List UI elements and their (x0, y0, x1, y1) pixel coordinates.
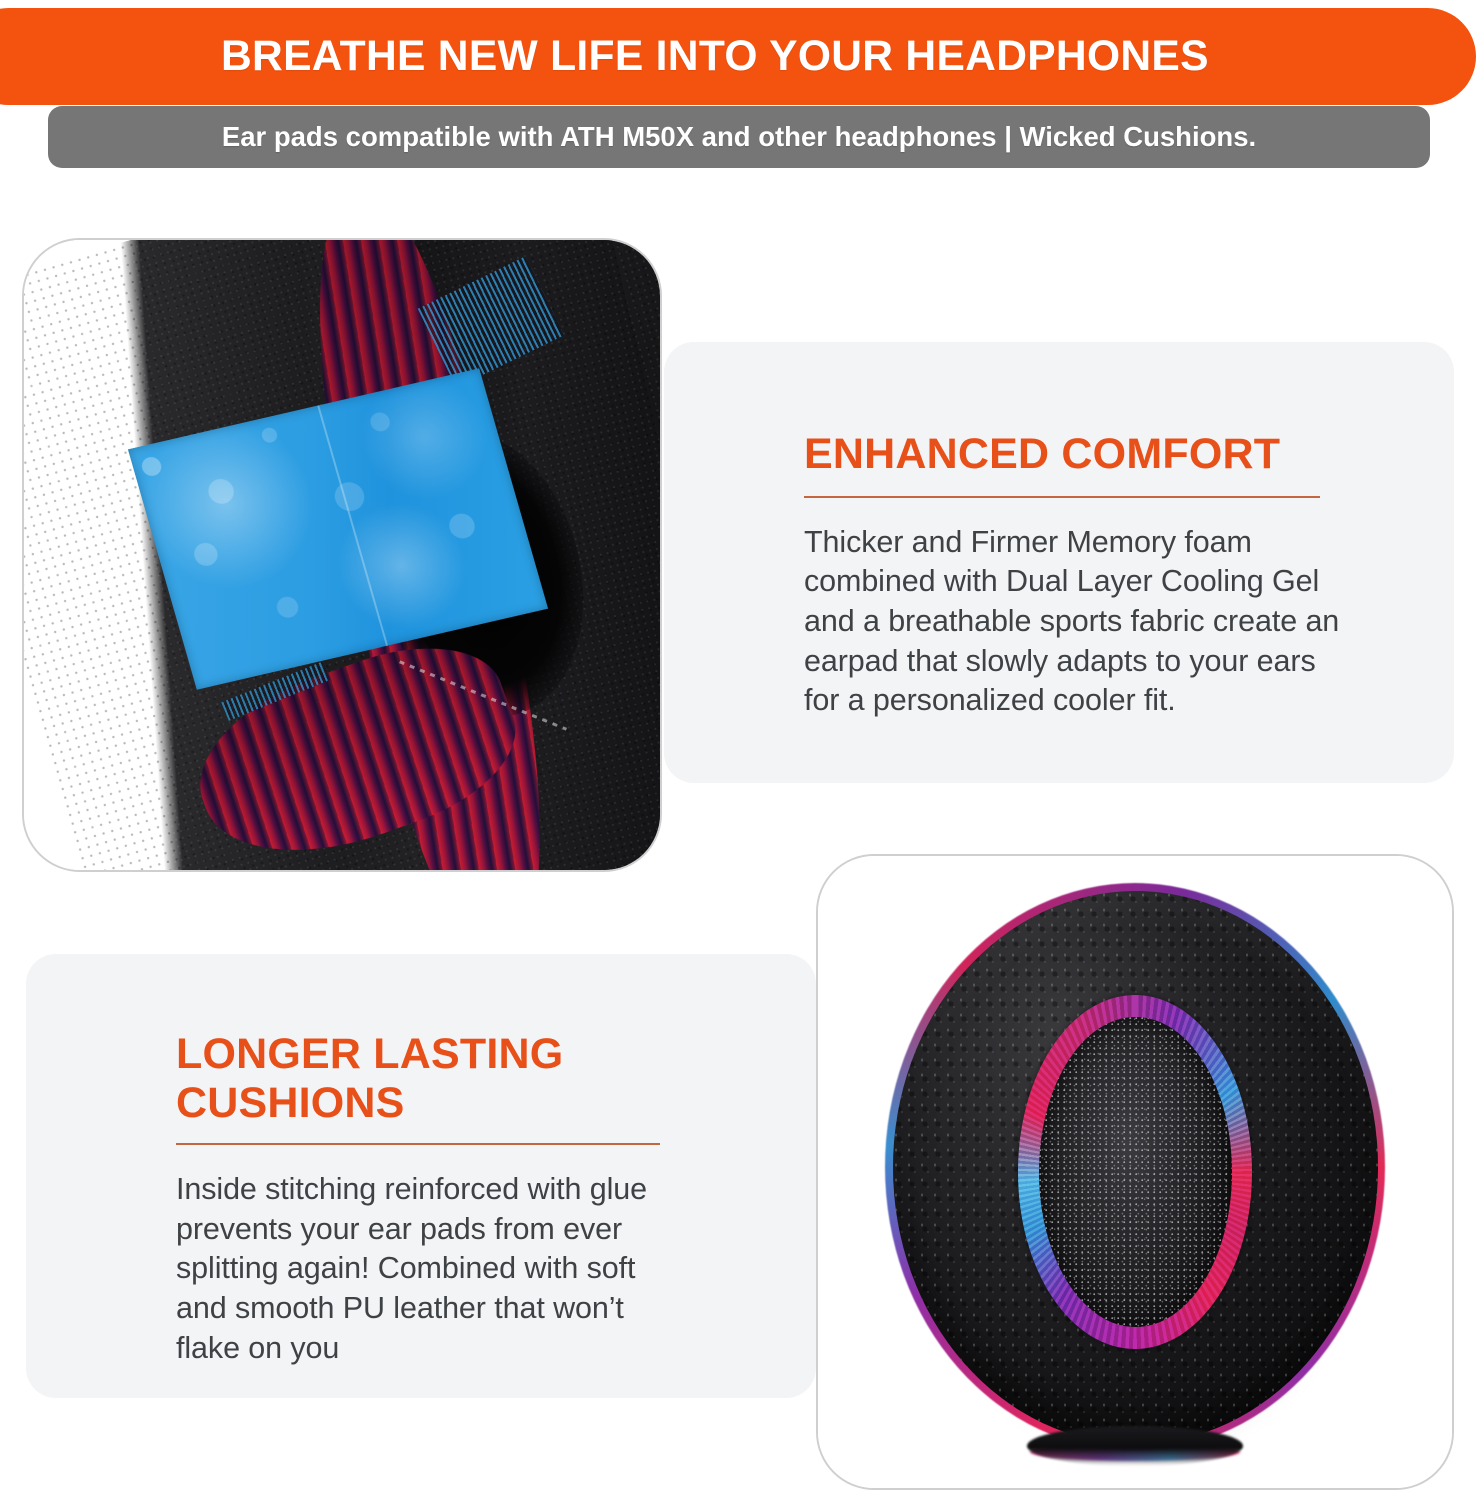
acoustic-foam-speckle (1039, 1017, 1232, 1328)
photo-card-oval-ear-pad (816, 854, 1454, 1490)
oval-ear-pad-photo (818, 856, 1452, 1488)
feature-heading: LONGER LASTING CUSHIONS (176, 1030, 676, 1127)
header: BREATHE NEW LIFE INTO YOUR HEADPHONES Ea… (0, 0, 1478, 180)
ear-pad-center-opening (1039, 1017, 1232, 1328)
page-title: BREATHE NEW LIFE INTO YOUR HEADPHONES (221, 32, 1209, 81)
heading-divider (176, 1143, 660, 1145)
feature-card-enhanced-comfort: ENHANCED COMFORT Thicker and Firmer Memo… (664, 342, 1454, 783)
feature-body: Inside stitching reinforced with glue pr… (176, 1170, 676, 1368)
cooling-gel-photo (24, 240, 660, 870)
title-banner: BREATHE NEW LIFE INTO YOUR HEADPHONES (0, 8, 1476, 105)
feature-text-block: LONGER LASTING CUSHIONS Inside stitching… (176, 1030, 676, 1399)
photo-card-cooling-gel (22, 238, 662, 872)
feature-heading: ENHANCED COMFORT (804, 430, 1344, 479)
subtitle-banner: Ear pads compatible with ATH M50X and ot… (48, 106, 1430, 168)
feature-card-longer-lasting-cushions: LONGER LASTING CUSHIONS Inside stitching… (26, 954, 816, 1398)
feature-body: Thicker and Firmer Memory foam combined … (804, 523, 1344, 721)
page-subtitle: Ear pads compatible with ATH M50X and ot… (222, 121, 1256, 153)
ear-pad-base-edge (1027, 1426, 1243, 1466)
feature-text-block: ENHANCED COMFORT Thicker and Firmer Memo… (804, 430, 1344, 751)
heading-divider (804, 496, 1320, 498)
